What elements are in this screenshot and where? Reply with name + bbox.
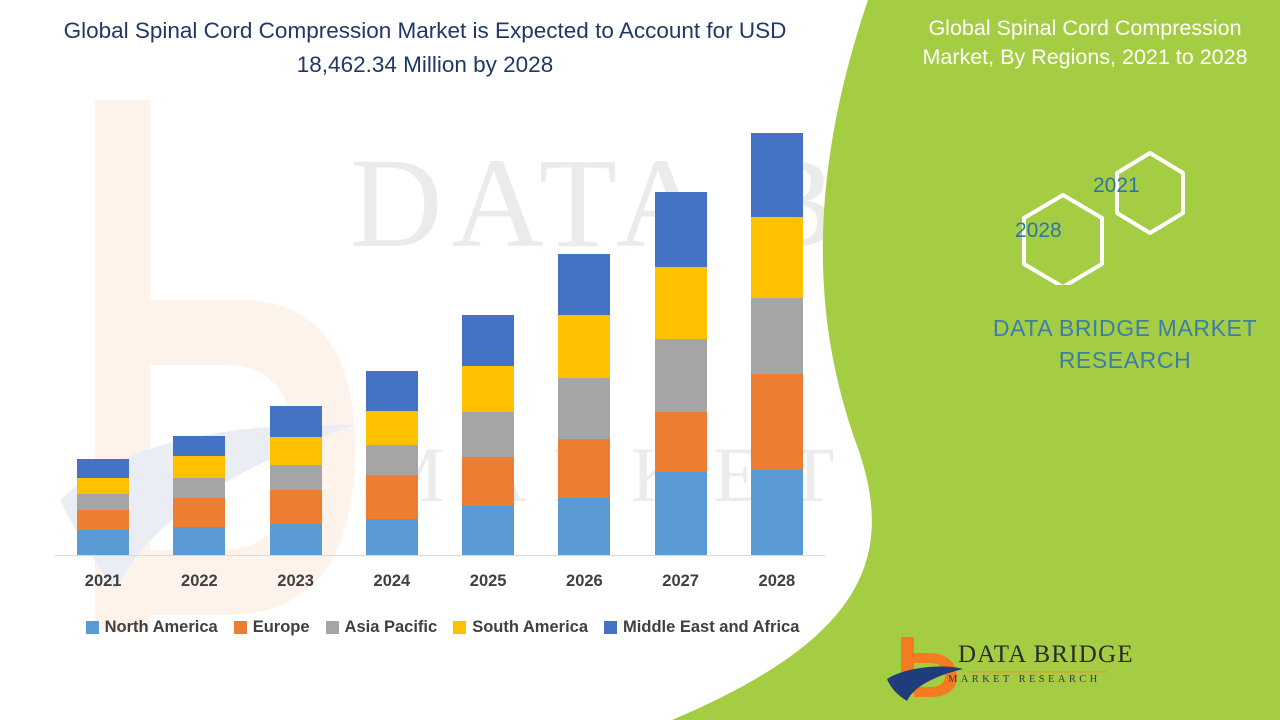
logo-brand-name: DATA BRIDGE — [958, 641, 1134, 669]
legend-label: Europe — [253, 618, 310, 637]
bar-segment[interactable] — [751, 374, 803, 470]
bar-segment[interactable] — [655, 267, 707, 339]
legend-label: South America — [472, 618, 588, 637]
bar-segment[interactable] — [173, 456, 225, 478]
legend-swatch-icon — [86, 621, 99, 634]
hexagon-outline-icon — [975, 145, 1205, 285]
bar-segment[interactable] — [270, 465, 322, 490]
infographic-canvas: DATA BRIDGE MARKET RESEARCH Global Spina… — [0, 0, 1280, 720]
bar-segment[interactable] — [77, 530, 129, 555]
bar-segment[interactable] — [366, 445, 418, 476]
bar-segment[interactable] — [173, 498, 225, 526]
bar-segment[interactable] — [462, 506, 514, 555]
bar-segment[interactable] — [173, 527, 225, 555]
bar-column-2028[interactable] — [751, 133, 803, 555]
bar-segment[interactable] — [366, 371, 418, 411]
legend-label: Asia Pacific — [345, 618, 438, 637]
x-tick-2024: 2024 — [352, 572, 432, 591]
x-tick-2027: 2027 — [641, 572, 721, 591]
bar-segment[interactable] — [270, 524, 322, 555]
bar-segment[interactable] — [366, 519, 418, 555]
chart-legend: North AmericaEuropeAsia PacificSouth Ame… — [55, 618, 830, 637]
bar-column-2024[interactable] — [366, 371, 418, 555]
bar-segment[interactable] — [558, 378, 610, 439]
legend-swatch-icon — [326, 621, 339, 634]
bar-segment[interactable] — [655, 412, 707, 472]
bar-segment[interactable] — [270, 490, 322, 524]
bar-segment[interactable] — [77, 459, 129, 477]
panel-title: Global Spinal Cord Compression Market, B… — [890, 14, 1280, 72]
bar-segment[interactable] — [751, 470, 803, 555]
x-tick-2025: 2025 — [448, 572, 528, 591]
x-tick-2028: 2028 — [737, 572, 817, 591]
bar-segment[interactable] — [558, 498, 610, 555]
legend-item[interactable]: Europe — [234, 618, 310, 637]
bar-segment[interactable] — [751, 298, 803, 374]
bar-segment[interactable] — [655, 472, 707, 555]
bar-segment[interactable] — [655, 339, 707, 412]
legend-item[interactable]: Asia Pacific — [326, 618, 438, 637]
bar-segment[interactable] — [270, 406, 322, 437]
x-tick-2023: 2023 — [256, 572, 336, 591]
legend-swatch-icon — [453, 621, 466, 634]
x-tick-2022: 2022 — [159, 572, 239, 591]
bar-segment[interactable] — [462, 315, 514, 366]
bar-segment[interactable] — [366, 411, 418, 445]
x-tick-2026: 2026 — [544, 572, 624, 591]
logo-brand-subtitle: MARKET RESEARCH — [948, 674, 1101, 685]
bar-segment[interactable] — [173, 436, 225, 456]
bar-segment[interactable] — [77, 510, 129, 530]
x-axis-line — [55, 555, 825, 556]
bar-column-2027[interactable] — [655, 192, 707, 555]
page-title: Global Spinal Cord Compression Market is… — [40, 14, 810, 82]
bar-column-2025[interactable] — [462, 315, 514, 555]
bar-segment[interactable] — [366, 475, 418, 518]
legend-item[interactable]: North America — [86, 618, 218, 637]
bar-segment[interactable] — [462, 457, 514, 506]
x-axis-tick-labels: 20212022202320242025202620272028 — [55, 572, 825, 598]
bar-segment[interactable] — [558, 315, 610, 378]
legend-label: Middle East and Africa — [623, 618, 799, 637]
bar-segment[interactable] — [270, 437, 322, 465]
legend-item[interactable]: South America — [453, 618, 588, 637]
bar-segment[interactable] — [462, 366, 514, 412]
legend-item[interactable]: Middle East and Africa — [604, 618, 799, 637]
legend-label: North America — [105, 618, 218, 637]
bar-column-2023[interactable] — [270, 406, 322, 555]
bar-segment[interactable] — [77, 494, 129, 510]
bar-segment[interactable] — [558, 439, 610, 498]
hex-label-start-year: 2021 — [1093, 174, 1140, 198]
bar-segment[interactable] — [751, 133, 803, 217]
chart-plot-area — [55, 100, 825, 556]
bar-segment[interactable] — [655, 192, 707, 267]
bar-column-2026[interactable] — [558, 254, 610, 555]
bar-segment[interactable] — [173, 478, 225, 498]
x-tick-2021: 2021 — [63, 572, 143, 591]
panel-brand-text: DATA BRIDGE MARKET RESEARCH — [930, 312, 1280, 376]
bar-segment[interactable] — [751, 217, 803, 298]
hexagon-badges: 2021 2028 — [975, 145, 1205, 285]
bar-column-2022[interactable] — [173, 436, 225, 555]
bar-segment[interactable] — [558, 254, 610, 315]
bar-segment[interactable] — [77, 478, 129, 494]
hex-label-end-year: 2028 — [1015, 219, 1062, 243]
bar-column-2021[interactable] — [77, 459, 129, 555]
legend-swatch-icon — [604, 621, 617, 634]
stacked-bar-chart — [55, 100, 825, 560]
legend-swatch-icon — [234, 621, 247, 634]
bar-segment[interactable] — [462, 412, 514, 458]
